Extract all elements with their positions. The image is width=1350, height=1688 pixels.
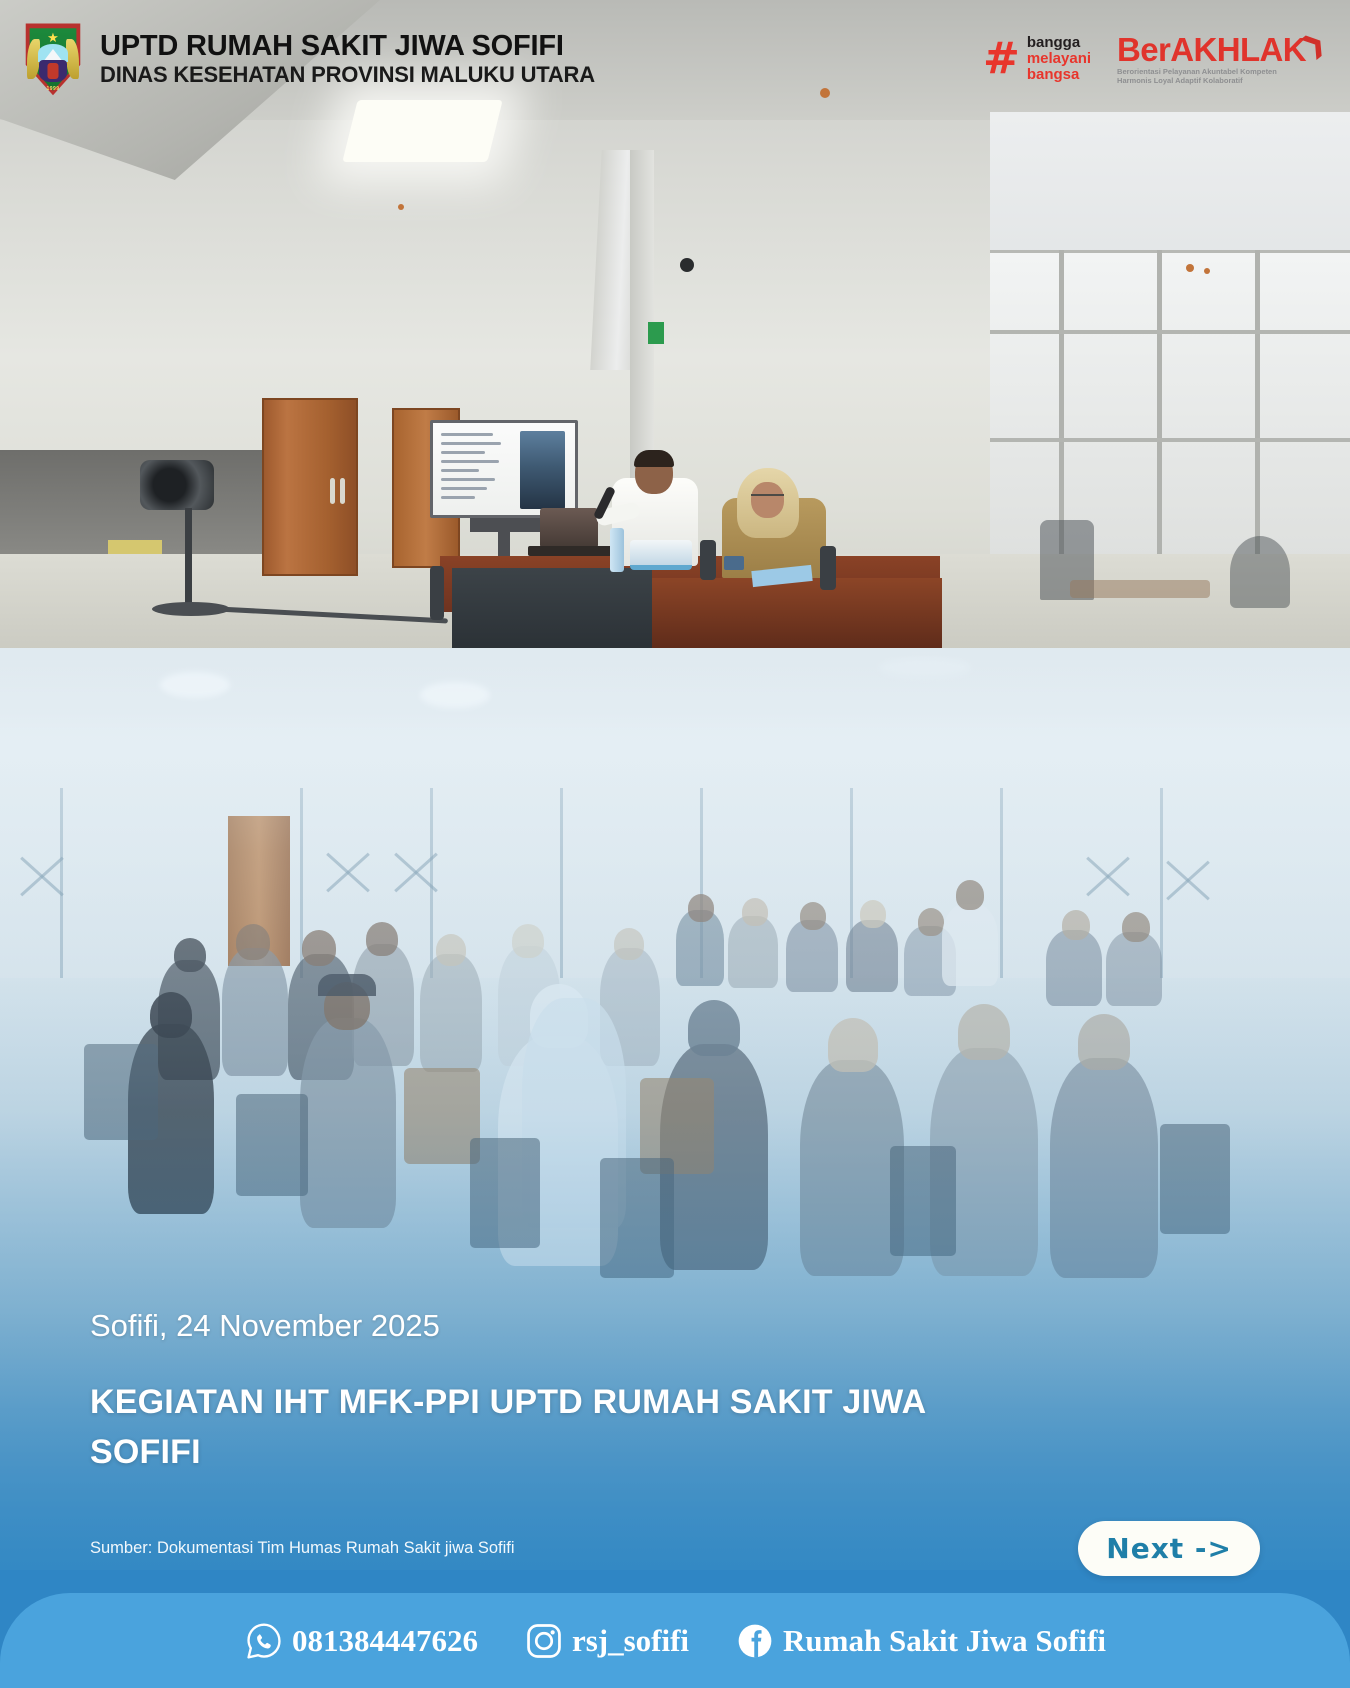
contact-instagram[interactable]: rsj_sofifi bbox=[524, 1621, 689, 1661]
page-subtitle: DINAS KESEHATAN PROVINSI MALUKU UTARA bbox=[100, 63, 595, 87]
berakhlak-subtitle-line-2: Harmonis Loyal Adaptif Kolaboratif bbox=[1117, 77, 1306, 86]
next-button[interactable]: Next -> bbox=[1078, 1521, 1260, 1576]
bangga-line-3: bangsa bbox=[1027, 67, 1091, 83]
bangga-line-2: melayani bbox=[1027, 51, 1091, 67]
footer-contact-bar: 081384447626 rsj_sofifi Rumah Sakit Jiwa… bbox=[0, 1593, 1350, 1688]
poster-header: ★ 1999 UPTD RUMAH SAKIT JIWA SOFIFI DINA… bbox=[0, 0, 1350, 118]
social-media-poster: ★ 1999 UPTD RUMAH SAKIT JIWA SOFIFI DINA… bbox=[0, 0, 1350, 1688]
berakhlak-logo: BerAKHLAK ❯ Berorientasi Pelayanan Akunt… bbox=[1117, 33, 1324, 86]
source-credit: Sumber: Dokumentasi Tim Humas Rumah Saki… bbox=[90, 1539, 515, 1558]
facebook-icon bbox=[735, 1621, 775, 1661]
contact-facebook[interactable]: Rumah Sakit Jiwa Sofifi bbox=[735, 1621, 1106, 1661]
page-title: UPTD RUMAH SAKIT JIWA SOFIFI bbox=[100, 31, 595, 61]
event-date: Sofifi, 24 November 2025 bbox=[90, 1307, 1260, 1344]
caption-block: Sofifi, 24 November 2025 KEGIATAN IHT MF… bbox=[0, 1307, 1350, 1576]
instagram-icon bbox=[524, 1621, 564, 1661]
instagram-handle: rsj_sofifi bbox=[572, 1625, 689, 1656]
bangga-melayani-bangsa-logo: # bangga melayani bangsa bbox=[983, 35, 1091, 82]
contact-whatsapp[interactable]: 081384447626 bbox=[244, 1621, 478, 1661]
event-headline: KEGIATAN IHT MFK-PPI UPTD RUMAH SAKIT JI… bbox=[90, 1378, 930, 1477]
hashtag-icon: # bbox=[983, 41, 1020, 76]
whatsapp-icon bbox=[244, 1621, 284, 1661]
berakhlak-wordmark: BerAKHLAK bbox=[1117, 33, 1306, 66]
whatsapp-number: 081384447626 bbox=[292, 1625, 478, 1656]
bangga-line-1: bangga bbox=[1027, 35, 1091, 51]
facebook-page-name: Rumah Sakit Jiwa Sofifi bbox=[783, 1625, 1106, 1656]
header-logos: # bangga melayani bangsa BerAKHLAK ❯ Ber… bbox=[983, 33, 1324, 86]
maluku-utara-crest-icon: ★ 1999 bbox=[22, 22, 84, 96]
crest-year-label: 1999 bbox=[46, 86, 59, 92]
